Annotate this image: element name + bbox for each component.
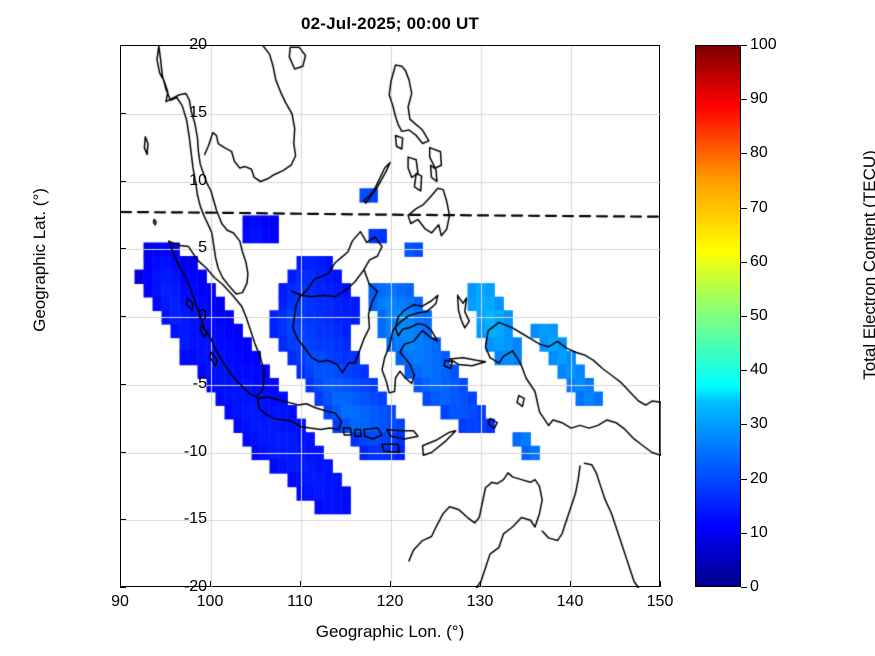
x-tick-label: 150	[630, 594, 690, 610]
colorbar-tick-label: 10	[750, 525, 768, 541]
colorbar-tick-label: 80	[750, 145, 768, 161]
colorbar-tick-mark	[741, 479, 747, 480]
colorbar-gradient	[696, 46, 740, 586]
y-tick-mark	[120, 519, 126, 520]
x-tick-label: 100	[180, 594, 240, 610]
colorbar-tick-mark	[741, 424, 747, 425]
x-tick-mark	[300, 581, 301, 587]
colorbar	[695, 45, 741, 587]
colorbar-tick-label: 40	[750, 362, 768, 378]
x-tick-mark	[390, 581, 391, 587]
y-tick-label: 5	[147, 240, 207, 256]
y-tick-label: -5	[147, 376, 207, 392]
colorbar-tick-label: 50	[750, 308, 768, 324]
colorbar-title: Total Electron Content (TECU)	[860, 55, 875, 475]
x-tick-mark	[210, 581, 211, 587]
colorbar-tick-mark	[741, 370, 747, 371]
y-tick-mark	[120, 587, 126, 588]
colorbar-tick-mark	[741, 533, 747, 534]
y-tick-label: -10	[147, 444, 207, 460]
colorbar-tick-mark	[741, 45, 747, 46]
colorbar-tick-label: 20	[750, 471, 768, 487]
y-tick-mark	[120, 113, 126, 114]
y-tick-mark	[120, 452, 126, 453]
x-tick-label: 90	[90, 594, 150, 610]
y-tick-label: -15	[147, 511, 207, 527]
y-axis-label: Geographic Lat. (°)	[30, 50, 50, 470]
colorbar-tick-label: 100	[750, 37, 777, 53]
y-tick-mark	[120, 45, 126, 46]
colorbar-tick-mark	[741, 262, 747, 263]
x-tick-mark	[660, 581, 661, 587]
x-tick-mark	[120, 581, 121, 587]
y-tick-label: 20	[147, 37, 207, 53]
y-tick-label: 0	[147, 308, 207, 324]
x-tick-label: 110	[270, 594, 330, 610]
page-title: 02-Jul-2025; 00:00 UT	[120, 14, 660, 34]
y-tick-mark	[120, 316, 126, 317]
colorbar-tick-label: 30	[750, 416, 768, 432]
colorbar-tick-mark	[741, 99, 747, 100]
x-tick-mark	[480, 581, 481, 587]
colorbar-tick-mark	[741, 153, 747, 154]
colorbar-tick-label: 90	[750, 91, 768, 107]
colorbar-tick-mark	[741, 316, 747, 317]
colorbar-tick-mark	[741, 587, 747, 588]
x-axis-label: Geographic Lon. (°)	[120, 622, 660, 642]
y-tick-label: 15	[147, 105, 207, 121]
y-tick-label: 10	[147, 173, 207, 189]
y-tick-mark	[120, 384, 126, 385]
x-tick-mark	[570, 581, 571, 587]
x-tick-label: 140	[540, 594, 600, 610]
y-tick-mark	[120, 181, 126, 182]
y-tick-mark	[120, 248, 126, 249]
colorbar-tick-mark	[741, 208, 747, 209]
x-tick-label: 130	[450, 594, 510, 610]
tec-map-figure: 02-Jul-2025; 00:00 UT Geographic Lat. (°…	[0, 0, 875, 656]
x-tick-label: 120	[360, 594, 420, 610]
colorbar-tick-label: 70	[750, 200, 768, 216]
colorbar-tick-label: 60	[750, 254, 768, 270]
colorbar-tick-label: 0	[750, 579, 759, 595]
